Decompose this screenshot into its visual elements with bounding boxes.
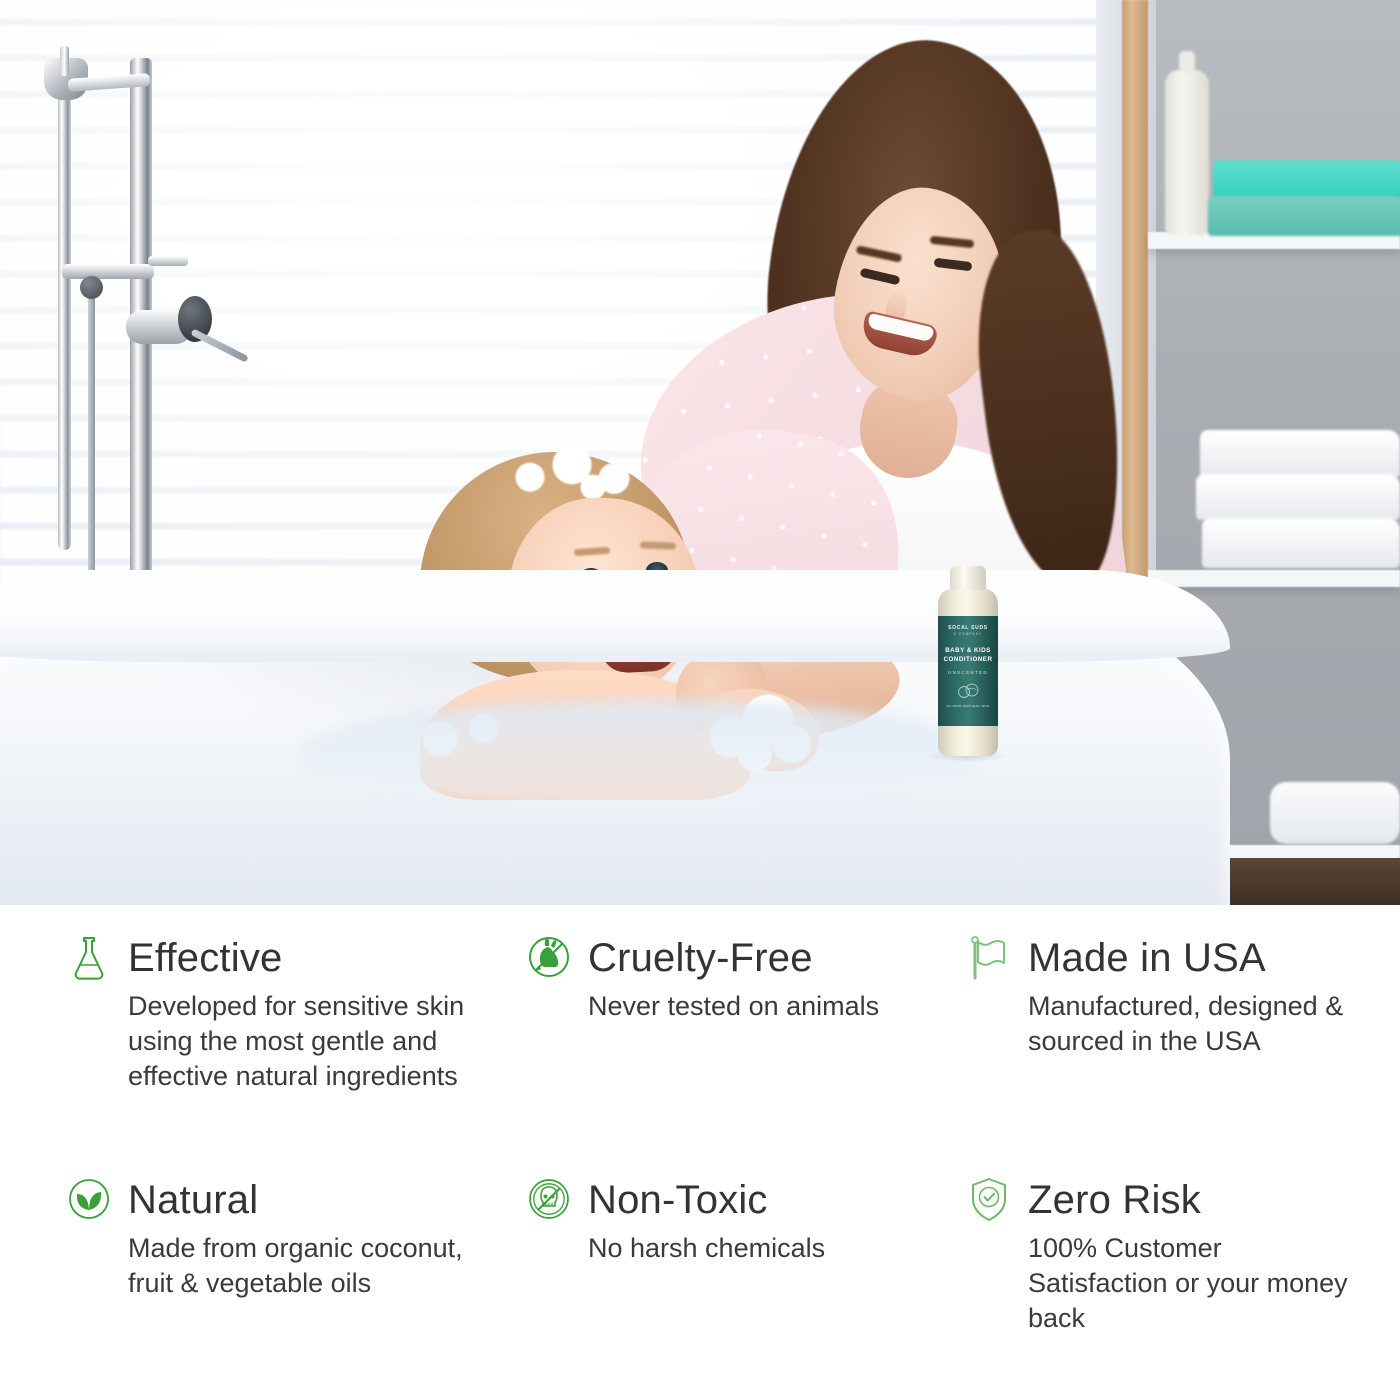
benefit-heading: Non-Toxic bbox=[526, 1175, 946, 1227]
bath-water bbox=[300, 700, 980, 810]
white-towel-1 bbox=[1200, 430, 1400, 478]
rail-bracket bbox=[62, 264, 154, 279]
benefits-panel: Effective Developed for sensitive skin u… bbox=[0, 905, 1400, 1400]
bubbles-on-head bbox=[500, 440, 650, 502]
tub-spout bbox=[148, 256, 188, 266]
shower-hose bbox=[88, 278, 95, 578]
benefit-effective: Effective Developed for sensitive skin u… bbox=[66, 933, 526, 1171]
benefit-title: Effective bbox=[128, 933, 282, 983]
benefits-row-2: Natural Made from organic coconut, fruit… bbox=[0, 1171, 1400, 1336]
benefit-description: Manufactured, designed & sourced in the … bbox=[1028, 989, 1358, 1059]
benefit-title: Cruelty-Free bbox=[588, 933, 813, 983]
leaf-circle-icon bbox=[66, 1175, 112, 1227]
benefit-title: Made in USA bbox=[1028, 933, 1266, 983]
benefit-zero-risk: Zero Risk 100% Customer Satisfaction or … bbox=[966, 1171, 1400, 1336]
benefit-description: No harsh chemicals bbox=[588, 1231, 918, 1266]
hose-clip bbox=[80, 276, 103, 299]
benefit-title: Non-Toxic bbox=[588, 1175, 768, 1225]
shower-column bbox=[130, 58, 152, 658]
white-towel-3 bbox=[1202, 518, 1400, 568]
flask-icon bbox=[66, 933, 112, 985]
child-brow-right bbox=[640, 541, 676, 549]
benefit-heading: Effective bbox=[66, 933, 506, 985]
benefit-heading: Made in USA bbox=[966, 933, 1400, 985]
label-product-name: BABY & KIDS CONDITIONER bbox=[938, 646, 998, 664]
benefit-description: 100% Customer Satisfaction or your money… bbox=[1028, 1231, 1358, 1336]
bottle-label: SOCAL SUDS & COMPANY BABY & KIDS CONDITI… bbox=[938, 616, 998, 726]
label-brand-sub: & COMPANY bbox=[938, 632, 998, 636]
product-marketing-page: SOCAL SUDS & COMPANY BABY & KIDS CONDITI… bbox=[0, 0, 1400, 1400]
benefit-heading: Cruelty-Free bbox=[526, 933, 946, 985]
no-skull-icon bbox=[526, 1175, 572, 1227]
shower-fixture bbox=[30, 28, 310, 648]
label-brand: SOCAL SUDS bbox=[938, 625, 998, 631]
label-footer: W/ 100% NATURAL WAX bbox=[938, 704, 998, 709]
coconut-illustration bbox=[956, 682, 980, 700]
shelf-dispenser-bottle bbox=[1165, 70, 1209, 235]
benefit-non-toxic: Non-Toxic No harsh chemicals bbox=[526, 1171, 966, 1336]
flag-icon bbox=[966, 933, 1012, 985]
white-towel-4 bbox=[1270, 782, 1400, 844]
white-towel-2 bbox=[1196, 474, 1400, 520]
bottle-cap bbox=[950, 566, 986, 590]
benefit-description: Developed for sensitive skin using the m… bbox=[128, 989, 488, 1094]
shower-rail bbox=[58, 70, 71, 550]
showerhead-stem bbox=[60, 46, 69, 76]
benefit-description: Made from organic coconut, fruit & veget… bbox=[128, 1231, 488, 1301]
benefit-heading: Natural bbox=[66, 1175, 506, 1227]
benefit-title: Zero Risk bbox=[1028, 1175, 1201, 1225]
product-bottle: SOCAL SUDS & COMPANY BABY & KIDS CONDITI… bbox=[938, 566, 998, 756]
shield-check-icon bbox=[966, 1175, 1012, 1227]
label-scent: UNSCENTED bbox=[938, 670, 998, 675]
bathtub-rim bbox=[0, 570, 1230, 662]
benefit-heading: Zero Risk bbox=[966, 1175, 1400, 1227]
benefit-cruelty-free: Cruelty-Free Never tested on animals bbox=[526, 933, 966, 1171]
benefits-row-1: Effective Developed for sensitive skin u… bbox=[0, 933, 1400, 1171]
shelf-middle bbox=[1148, 570, 1400, 587]
teal-towel-second bbox=[1208, 196, 1400, 236]
lifestyle-photo: SOCAL SUDS & COMPANY BABY & KIDS CONDITI… bbox=[0, 0, 1400, 905]
benefit-description: Never tested on animals bbox=[588, 989, 918, 1024]
teal-towel-top bbox=[1213, 160, 1400, 198]
benefit-title: Natural bbox=[128, 1175, 258, 1225]
benefit-natural: Natural Made from organic coconut, fruit… bbox=[66, 1171, 526, 1336]
valve-lever bbox=[190, 328, 248, 362]
no-rabbit-icon bbox=[526, 933, 572, 985]
benefit-made-in-usa: Made in USA Manufactured, designed & sou… bbox=[966, 933, 1400, 1171]
